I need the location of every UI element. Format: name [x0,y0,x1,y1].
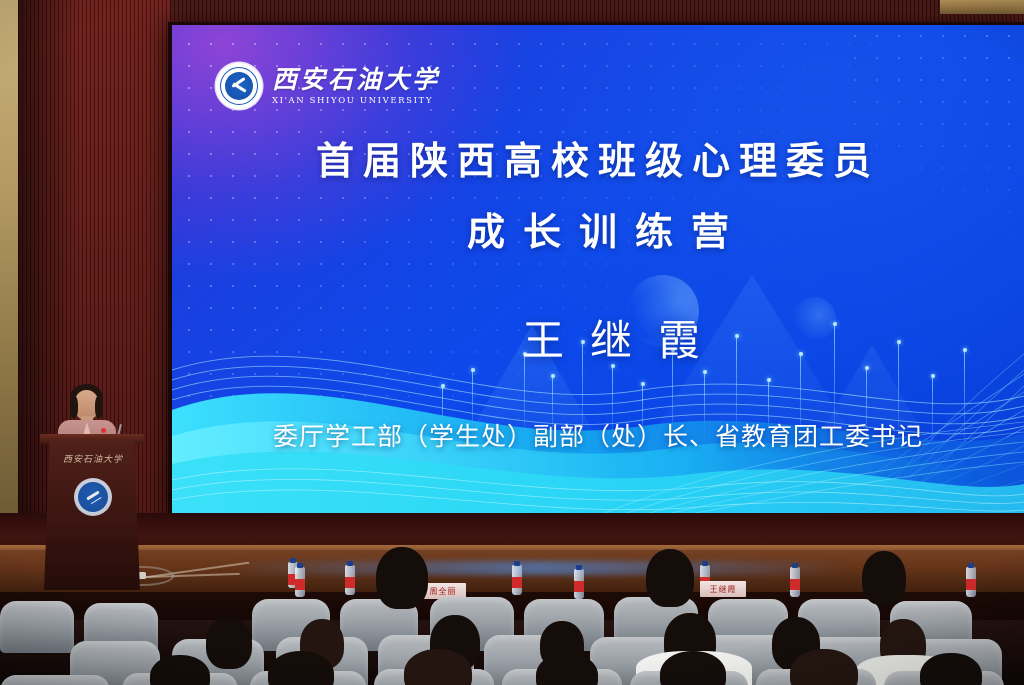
audience-head [646,549,694,607]
desk-edge [0,545,1024,550]
university-name-en: XI'AN SHIYOU UNIVERSITY [272,97,440,106]
name-card-2: 王继霞 [700,581,746,597]
wall-panel-top [170,0,1024,24]
university-seal-icon [216,63,262,109]
water-bottle-2 [345,565,355,595]
event-title-line-2: 成长训练营 [172,201,1024,256]
event-title-line-1: 首届陕西高校班级心理委员 [172,130,1024,185]
speaker-hair-right [95,396,103,418]
speaker-role-title: 委厅学工部（学生处）副部（处）长、省教育团工委书记 [172,417,1024,453]
wall-column-left [0,0,18,520]
university-name-cn: 西安石油大学 [272,67,440,92]
seat [0,601,74,653]
podium-seal-icon [74,478,112,516]
speaker-name: 王继霞 [172,307,1024,368]
water-bottle-5 [574,569,584,599]
event-title: 首届陕西高校班级心理委员 成长训练营 [172,130,1024,256]
water-bottle-9 [966,567,976,597]
water-bottle-4 [512,565,522,595]
led-screen: 西安石油大学 XI'AN SHIYOU UNIVERSITY 首届陕西高校班级心… [172,25,1024,514]
audience-head [376,547,428,609]
audience-head [206,617,252,669]
audience-head [862,551,906,605]
seat [0,675,110,685]
podium-university-name: 西安石油大学 [54,452,132,465]
audience-head [536,653,598,685]
water-bottle-1 [295,567,305,597]
speaker-badge [101,428,106,433]
ceiling-strip [940,0,1024,14]
audience-area: 周全丽 王继霞 [0,555,1024,685]
photo-scene: 西安石油大学 XI'AN SHIYOU UNIVERSITY 首届陕西高校班级心… [0,0,1024,685]
university-logo-lockup: 西安石油大学 XI'AN SHIYOU UNIVERSITY [216,63,440,109]
speaker-hair-left [70,396,78,418]
water-bottle-7 [790,567,800,597]
